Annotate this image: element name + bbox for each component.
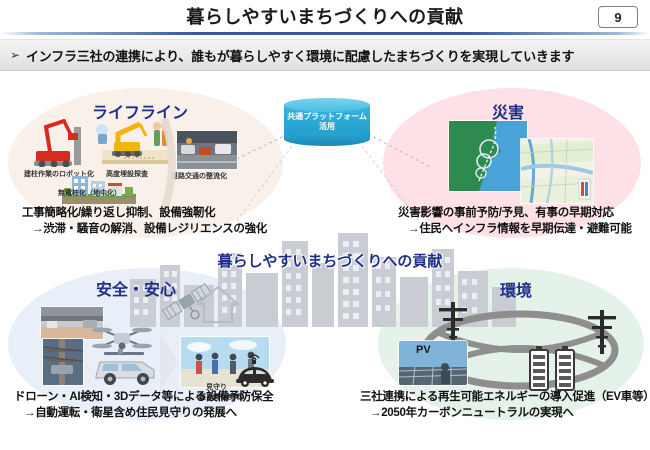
lifeline-caption-line1: 工事簡略化/繰り返し抑制、設備強靭化 [22, 206, 267, 222]
lead-statement-band: ➢ インフラ三社の連携により、誰もが暮らしやすく環境に配慮したまちづくりを実現し… [0, 39, 650, 71]
bullet-arrow-icon: ➢ [10, 48, 20, 62]
cylinder-bottom [284, 132, 370, 146]
inspection-van-icon [88, 348, 164, 390]
hazard-map [520, 138, 594, 204]
pv-label: PV [416, 344, 431, 356]
environment-caption-line1: 三社連携による再生可能エネルギーの導入促進（EV車等） [360, 390, 650, 406]
header-divider [0, 32, 650, 35]
platform-label: 共通プラットフォーム 活用 [284, 112, 370, 132]
slide-header: 暮らしやすいまちづくりへの貢献 9 [0, 0, 650, 33]
diagram-canvas: ライフライン 建柱作業のロボット化 高度埋設探査 [0, 72, 650, 450]
typhoon-track-map [448, 120, 528, 192]
disaster-caption-line1: 災害影響の事前予防/予見、有事の早期対応 [398, 206, 632, 222]
transmission-tower-right-icon [586, 308, 618, 356]
environment-caption: 三社連携による再生可能エネルギーの導入促進（EV車等） →2050年カーボンニュ… [360, 390, 650, 421]
slide-root: 暮らしやすいまちづくりへの貢献 9 ➢ インフラ三社の連携により、誰もが暮らしや… [0, 0, 650, 450]
environment-caption-line2: →2050年カーボンニュートラルの実現へ [360, 406, 650, 422]
robot-arm-icon [30, 117, 88, 167]
pv-panel-photo [398, 340, 468, 386]
house-icon [196, 284, 240, 324]
common-platform-cylinder: 共通プラットフォーム 活用 [284, 98, 370, 150]
cylinder-top [284, 98, 370, 112]
environment-section-title: 環境 [500, 277, 532, 301]
center-banner-text: 暮らしやすいまちづくりへの貢献 [150, 250, 510, 271]
utility-pole-photo [42, 338, 84, 386]
safety-caption-line1: ドローン・AI検知・3Dデータ等による設備予防保全 [14, 390, 273, 406]
page-number-badge: 9 [598, 6, 638, 28]
battery-storage-icon [528, 344, 582, 392]
page-title: 暮らしやすいまちづくりへの貢献 [0, 3, 650, 29]
lead-statement-text: インフラ三社の連携により、誰もが暮らしやすく環境に配慮したまちづくりを実現してい… [26, 46, 642, 65]
lifeline-divider [160, 118, 190, 210]
platform-label-line2: 活用 [284, 122, 370, 132]
platform-label-line1: 共通プラットフォーム [284, 112, 370, 122]
safety-caption-line2: →自動運転・衛星含め住民見守りの発展へ [14, 406, 273, 422]
lifeline-label-underground: 無電柱化（地中化） [58, 188, 121, 198]
safety-caption: ドローン・AI検知・3Dデータ等による設備予防保全 →自動運転・衛星含め住民見守… [14, 390, 273, 421]
autonomous-car-icon [232, 354, 278, 390]
